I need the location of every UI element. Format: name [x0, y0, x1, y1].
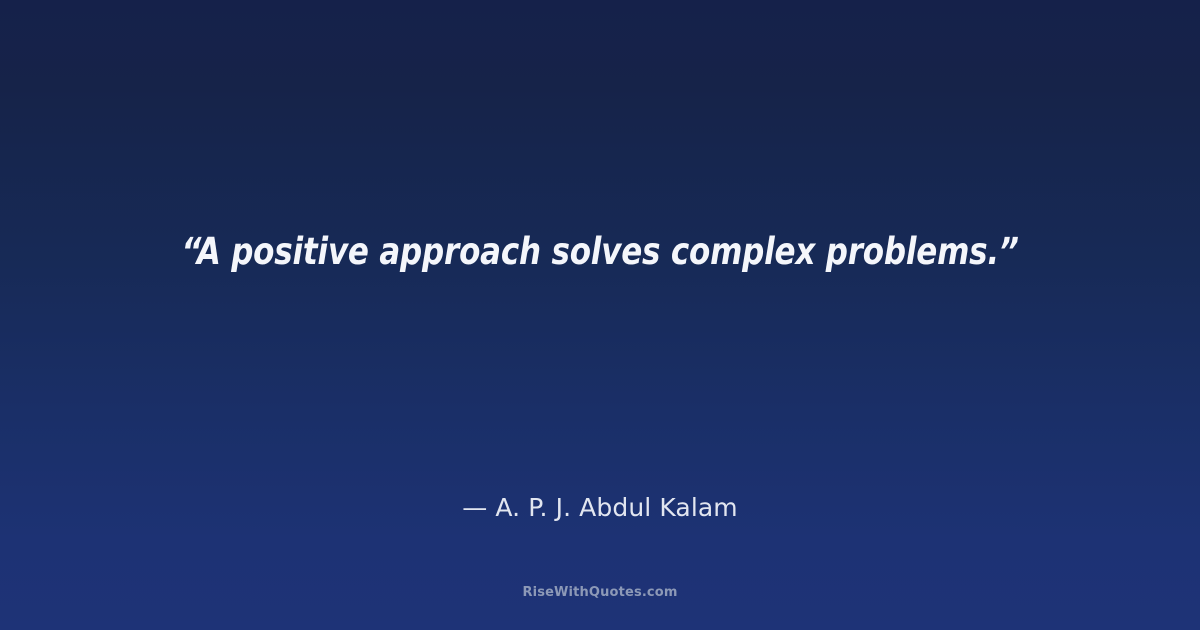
- site-watermark: RiseWithQuotes.com: [522, 584, 677, 602]
- quote-card: “A positive approach solves complex prob…: [0, 0, 1200, 630]
- quote-text: “A positive approach solves complex prob…: [181, 228, 1018, 276]
- quote-author: — A. P. J. Abdul Kalam: [462, 492, 738, 524]
- footer-block: RiseWithQuotes.com: [0, 583, 1200, 602]
- attribution-block: — A. P. J. Abdul Kalam: [0, 492, 1200, 524]
- quote-block: “A positive approach solves complex prob…: [0, 228, 1200, 276]
